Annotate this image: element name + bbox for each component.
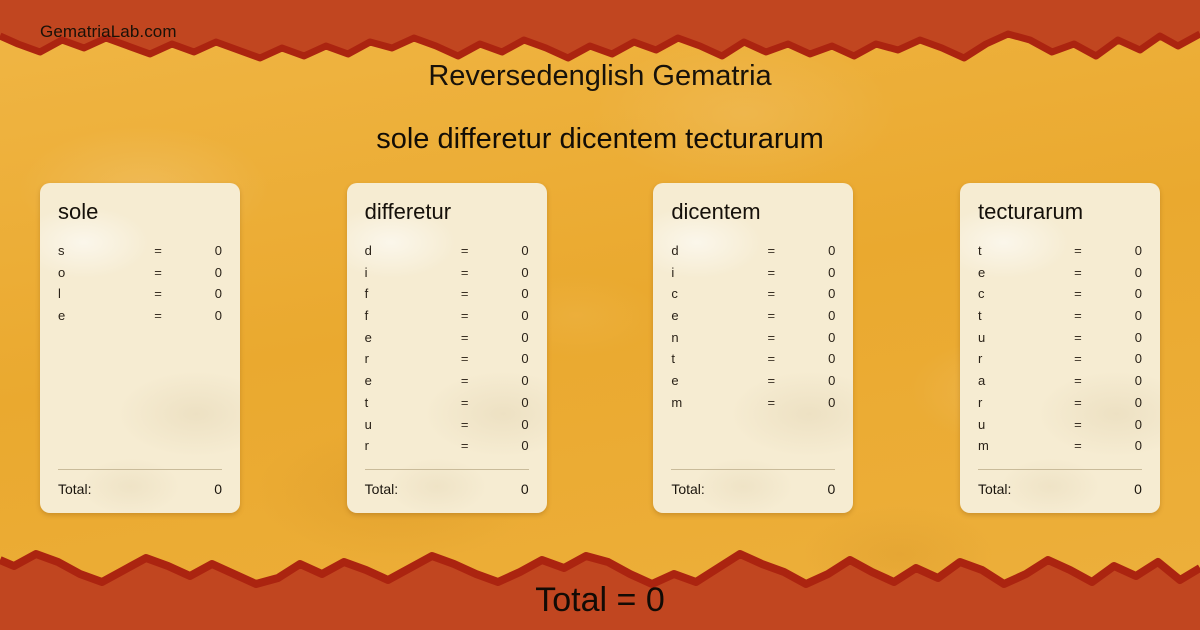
equals-sign: = [1056,243,1100,258]
equals-sign: = [749,373,793,388]
word-card: differeturd=0i=0f=0f=0e=0r=0e=0t=0u=0r=0… [347,183,547,513]
letter-glyph: u [978,330,1056,345]
letter-glyph: t [365,395,443,410]
total-label: Total: [671,481,704,497]
letter-value: 0 [1100,265,1142,280]
letter-row: i=0 [671,265,835,287]
equals-sign: = [443,308,487,323]
letter-row: d=0 [365,243,529,265]
letter-glyph: a [978,373,1056,388]
letter-value: 0 [1100,286,1142,301]
letter-value: 0 [1100,330,1142,345]
word-card-title: differetur [365,201,529,223]
letter-value: 0 [487,286,529,301]
equals-sign: = [1056,265,1100,280]
letter-value: 0 [1100,351,1142,366]
letter-value: 0 [1100,308,1142,323]
letter-row: u=0 [978,417,1142,439]
letter-value-list: s=0o=0l=0e=0 [58,243,222,469]
equals-sign: = [443,395,487,410]
letter-row: f=0 [365,286,529,308]
gematria-result-card: GematriaLab.com Reversedenglish Gematria… [0,0,1200,630]
equals-sign: = [443,417,487,432]
letter-row: e=0 [365,330,529,352]
grand-total: Total = 0 [0,581,1200,620]
letter-value: 0 [487,265,529,280]
letter-value: 0 [793,351,835,366]
word-total-row: Total:0 [58,470,222,513]
word-card: soles=0o=0l=0e=0Total:0 [40,183,240,513]
letter-glyph: m [978,438,1056,453]
letter-glyph: r [978,395,1056,410]
letter-value: 0 [793,243,835,258]
total-label: Total: [978,481,1011,497]
word-card-title: sole [58,201,222,223]
word-total-row: Total:0 [671,470,835,513]
letter-row: c=0 [978,286,1142,308]
letter-row: r=0 [978,351,1142,373]
letter-glyph: e [671,373,749,388]
letter-glyph: f [365,286,443,301]
letter-glyph: r [365,438,443,453]
equals-sign: = [1056,286,1100,301]
letter-row: c=0 [671,286,835,308]
letter-row: l=0 [58,286,222,308]
letter-value: 0 [1100,395,1142,410]
input-phrase: sole differetur dicentem tecturarum [0,123,1200,156]
letter-value: 0 [487,395,529,410]
letter-row: i=0 [365,265,529,287]
letter-row: u=0 [978,330,1142,352]
total-value: 0 [828,481,836,497]
letter-glyph: e [365,373,443,388]
total-value: 0 [1134,481,1142,497]
letter-row: s=0 [58,243,222,265]
letter-value: 0 [487,351,529,366]
equals-sign: = [1056,438,1100,453]
letter-row: r=0 [365,438,529,460]
letter-value: 0 [487,438,529,453]
letter-glyph: c [671,286,749,301]
letter-value: 0 [487,417,529,432]
letter-glyph: d [365,243,443,258]
equals-sign: = [1056,330,1100,345]
letter-glyph: u [365,417,443,432]
letter-row: t=0 [978,243,1142,265]
equals-sign: = [443,373,487,388]
letter-value: 0 [793,395,835,410]
letter-row: f=0 [365,308,529,330]
equals-sign: = [443,265,487,280]
total-value: 0 [521,481,529,497]
letter-value-list: d=0i=0c=0e=0n=0t=0e=0m=0 [671,243,835,469]
word-total-row: Total:0 [978,470,1142,513]
letter-value-list: t=0e=0c=0t=0u=0r=0a=0r=0u=0m=0 [978,243,1142,469]
letter-glyph: m [671,395,749,410]
total-label: Total: [365,481,398,497]
letter-value: 0 [1100,373,1142,388]
letter-row: n=0 [671,330,835,352]
total-label: Total: [58,481,91,497]
letter-value: 0 [1100,417,1142,432]
word-card: dicentemd=0i=0c=0e=0n=0t=0e=0m=0Total:0 [653,183,853,513]
letter-glyph: t [978,243,1056,258]
equals-sign: = [749,308,793,323]
letter-row: e=0 [58,308,222,330]
equals-sign: = [1056,417,1100,432]
letter-value: 0 [1100,438,1142,453]
letter-row: m=0 [671,395,835,417]
equals-sign: = [443,438,487,453]
letter-row: o=0 [58,265,222,287]
letter-glyph: e [58,308,136,323]
letter-row: e=0 [671,373,835,395]
letter-glyph: d [671,243,749,258]
equals-sign: = [1056,395,1100,410]
total-value: 0 [214,481,222,497]
letter-row: t=0 [671,351,835,373]
letter-row: e=0 [671,308,835,330]
word-card-title: dicentem [671,201,835,223]
letter-glyph: t [671,351,749,366]
equals-sign: = [749,265,793,280]
letter-glyph: e [365,330,443,345]
equals-sign: = [1056,373,1100,388]
equals-sign: = [1056,351,1100,366]
letter-value: 0 [793,286,835,301]
word-total-row: Total:0 [365,470,529,513]
equals-sign: = [749,286,793,301]
letter-value: 0 [180,308,222,323]
letter-glyph: o [58,265,136,280]
letter-row: u=0 [365,417,529,439]
letter-glyph: e [671,308,749,323]
letter-value-list: d=0i=0f=0f=0e=0r=0e=0t=0u=0r=0 [365,243,529,469]
letter-value: 0 [793,265,835,280]
letter-value: 0 [793,373,835,388]
equals-sign: = [443,286,487,301]
equals-sign: = [443,351,487,366]
letter-value: 0 [793,308,835,323]
letter-glyph: f [365,308,443,323]
letter-value: 0 [793,330,835,345]
letter-value: 0 [487,243,529,258]
letter-value: 0 [487,330,529,345]
letter-row: e=0 [978,265,1142,287]
equals-sign: = [443,243,487,258]
letter-glyph: e [978,265,1056,280]
letter-glyph: s [58,243,136,258]
letter-glyph: l [58,286,136,301]
letter-glyph: i [365,265,443,280]
page-title: Reversedenglish Gematria [0,60,1200,93]
letter-row: r=0 [978,395,1142,417]
letter-glyph: u [978,417,1056,432]
letter-value: 0 [180,243,222,258]
equals-sign: = [136,286,180,301]
word-card: tecturarumt=0e=0c=0t=0u=0r=0a=0r=0u=0m=0… [960,183,1160,513]
letter-glyph: n [671,330,749,345]
equals-sign: = [136,308,180,323]
letter-row: t=0 [365,395,529,417]
letter-value: 0 [487,373,529,388]
letter-glyph: c [978,286,1056,301]
letter-row: m=0 [978,438,1142,460]
letter-glyph: r [365,351,443,366]
letter-glyph: t [978,308,1056,323]
letter-row: t=0 [978,308,1142,330]
letter-row: a=0 [978,373,1142,395]
equals-sign: = [136,243,180,258]
equals-sign: = [1056,308,1100,323]
word-card-list: soles=0o=0l=0e=0Total:0differeturd=0i=0f… [40,183,1160,513]
letter-value: 0 [180,286,222,301]
equals-sign: = [749,330,793,345]
equals-sign: = [136,265,180,280]
equals-sign: = [443,330,487,345]
equals-sign: = [749,395,793,410]
equals-sign: = [749,351,793,366]
letter-row: r=0 [365,351,529,373]
letter-row: e=0 [365,373,529,395]
equals-sign: = [749,243,793,258]
letter-glyph: i [671,265,749,280]
letter-value: 0 [1100,243,1142,258]
letter-value: 0 [180,265,222,280]
letter-glyph: r [978,351,1056,366]
letter-row: d=0 [671,243,835,265]
word-card-title: tecturarum [978,201,1142,223]
site-brand: GematriaLab.com [40,22,177,42]
letter-value: 0 [487,308,529,323]
